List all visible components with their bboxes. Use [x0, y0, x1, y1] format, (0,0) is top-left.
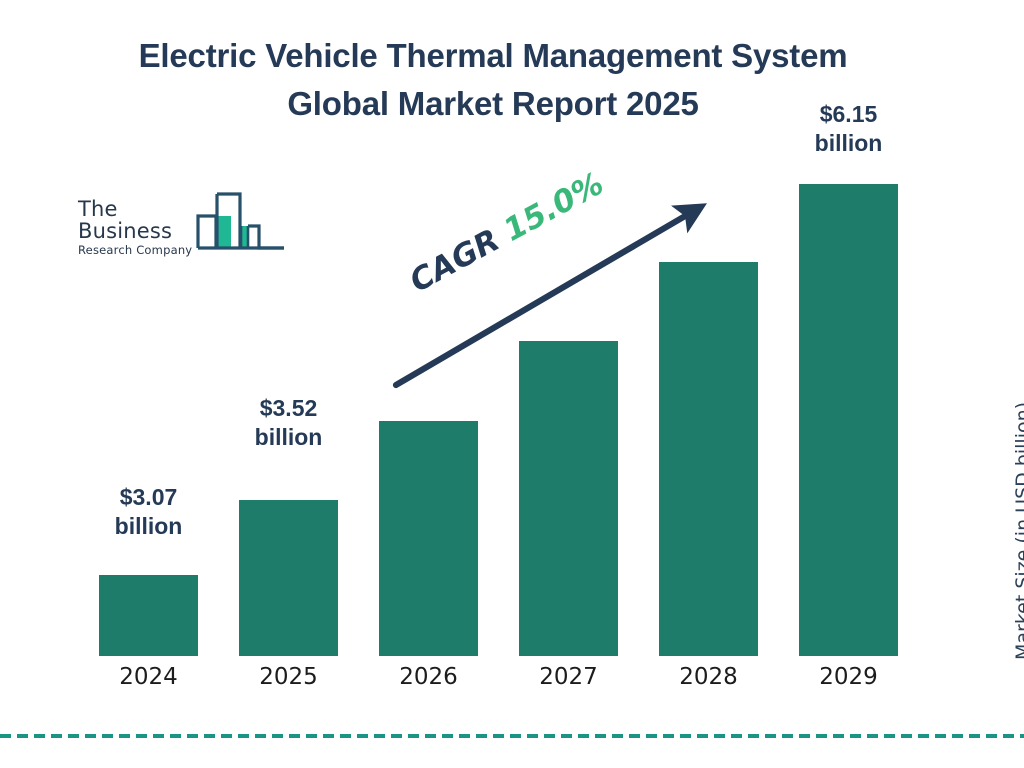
- bar-value-amount-2024: $3.07: [99, 483, 198, 512]
- x-axis-tick-2029: 2029: [799, 664, 898, 690]
- bar-2025: [239, 500, 338, 656]
- x-axis-tick-2024: 2024: [99, 664, 198, 690]
- cagr-label: CAGR: [404, 222, 506, 299]
- cagr-value: 15.0%: [498, 166, 610, 249]
- bar-value-unit-2029: billion: [799, 129, 898, 158]
- bar-chart-plot: $3.07 billion $3.52 billion $6.15 billio…: [0, 0, 1024, 768]
- chart-page: Electric Vehicle Thermal Management Syst…: [0, 0, 1024, 768]
- x-axis-tick-2027: 2027: [519, 664, 618, 690]
- x-axis-tick-2025: 2025: [239, 664, 338, 690]
- bar-value-amount-2025: $3.52: [239, 394, 338, 423]
- bar-value-label-2025: $3.52 billion: [239, 394, 338, 452]
- bar-value-amount-2029: $6.15: [799, 100, 898, 129]
- bar-2028: [659, 262, 758, 656]
- bar-value-unit-2025: billion: [239, 423, 338, 452]
- x-axis-tick-2026: 2026: [379, 664, 478, 690]
- bar-value-label-2024: $3.07 billion: [99, 483, 198, 541]
- y-axis-title: Market Size (in USD billion): [1012, 330, 1024, 660]
- bar-2029: [799, 184, 898, 656]
- bar-2026: [379, 421, 478, 656]
- x-axis-tick-2028: 2028: [659, 664, 758, 690]
- footer-divider: [0, 734, 1024, 738]
- bar-value-label-2029: $6.15 billion: [799, 100, 898, 158]
- bar-2024: [99, 575, 198, 656]
- bar-value-unit-2024: billion: [99, 512, 198, 541]
- bar-2027: [519, 341, 618, 656]
- cagr-annotation: CAGR 15.0%: [404, 166, 610, 300]
